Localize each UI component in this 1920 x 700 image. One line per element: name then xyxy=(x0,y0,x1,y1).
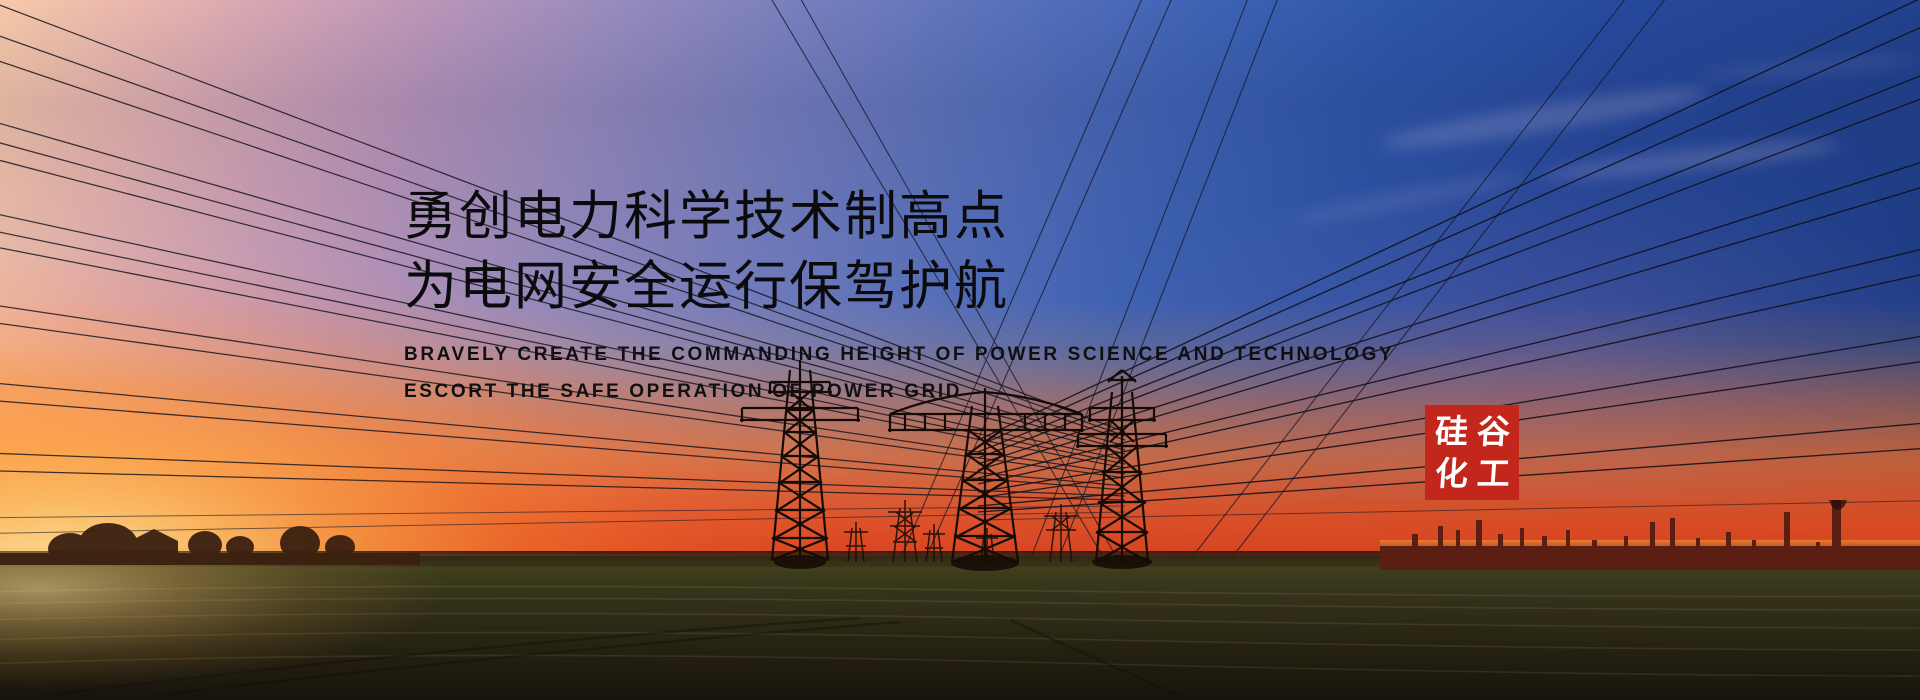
company-logo-seal[interactable]: 硅 谷 化 工 xyxy=(1425,405,1519,500)
headline-line-2: 为电网安全运行保驾护航 xyxy=(404,252,1464,322)
logo-char-gui: 硅 xyxy=(1433,415,1468,448)
logo-char-hua: 化 xyxy=(1433,457,1468,490)
subtitle-line-1: BRAVELY CREATE THE COMMANDING HEIGHT OF … xyxy=(404,336,1464,373)
logo-char-gu: 谷 xyxy=(1475,415,1510,448)
subtitle-line-2: ESCORT THE SAFE OPERATION OF POWER GRID xyxy=(404,373,1464,410)
hero-banner: 勇创电力科学技术制高点 为电网安全运行保驾护航 BRAVELY CREATE T… xyxy=(0,0,1920,700)
headline-block: 勇创电力科学技术制高点 为电网安全运行保驾护航 BRAVELY CREATE T… xyxy=(404,182,1464,410)
logo-characters: 硅 谷 化 工 xyxy=(1425,405,1519,500)
logo-char-gong: 工 xyxy=(1475,457,1510,490)
headline-line-1: 勇创电力科学技术制高点 xyxy=(404,182,1464,252)
logo-inner: 硅 谷 化 工 xyxy=(1425,405,1519,500)
